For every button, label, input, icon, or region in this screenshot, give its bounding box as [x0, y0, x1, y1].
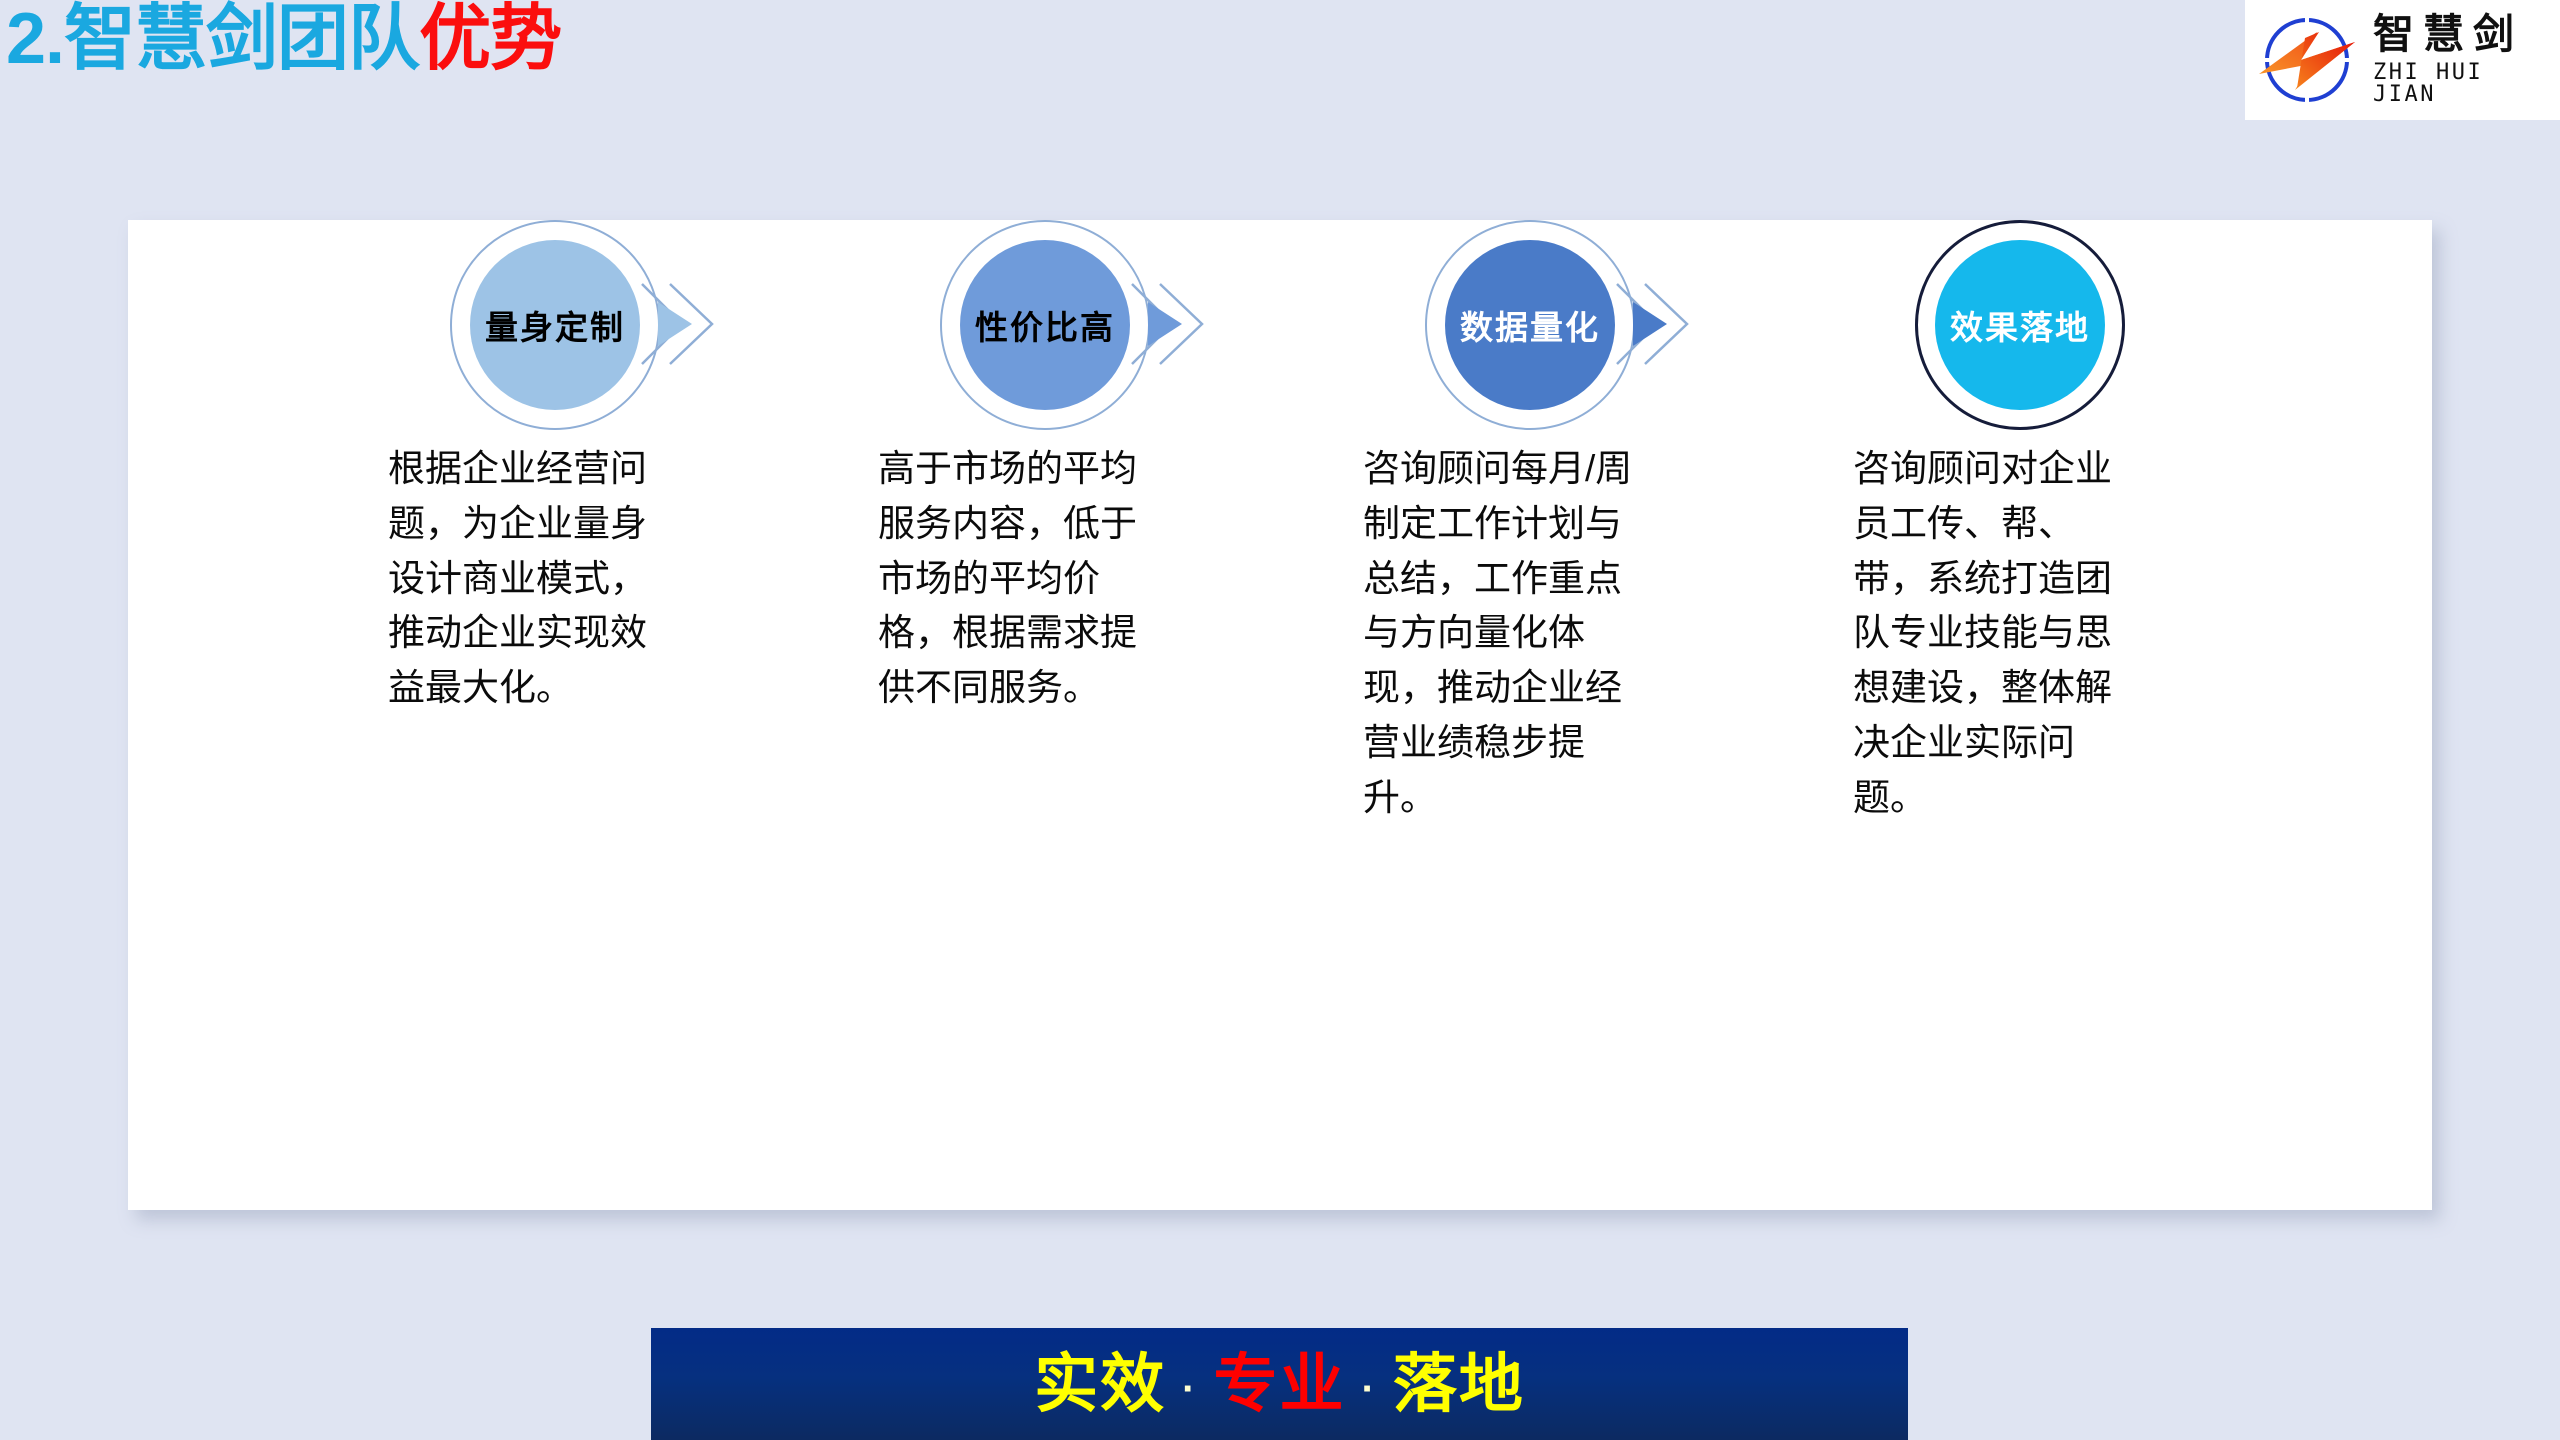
stage-description: 咨询顾问每月/周制定工作计划与总结，工作重点与方向量化体现，推动企业经营业绩稳步…	[1363, 442, 1643, 825]
footer-slogan-banner: 实效·专业·落地	[651, 1328, 1908, 1440]
stage-disc: 量身定制	[470, 240, 640, 410]
page-title-highlight: 优势	[419, 0, 561, 79]
stage-label: 数据量化	[1460, 301, 1600, 349]
logo-pinyin: ZHI HUI JIAN	[2373, 62, 2560, 106]
chevron-right-icon	[1130, 282, 1210, 366]
footer-slogan: 实效·专业·落地	[1034, 1352, 1525, 1416]
footer-word-2: 专业	[1214, 1348, 1346, 1420]
stage-description: 高于市场的平均服务内容，低于市场的平均价格，根据需求提供不同服务。	[878, 442, 1158, 716]
chevron-right-icon	[1615, 282, 1695, 366]
page-title-prefix: 2.智慧剑团队	[6, 0, 419, 79]
stage-disc: 性价比高	[960, 240, 1130, 410]
logo-chinese-name: 智慧剑	[2373, 14, 2560, 55]
footer-separator-1: ·	[1166, 1367, 1213, 1411]
stage-description: 根据企业经营问题，为企业量身设计商业模式，推动企业实现效益最大化。	[388, 442, 668, 716]
content-card: 量身定制 根据企业经营问题，为企业量身设计商业模式，推动企业实现效益最大化。 性…	[128, 220, 2432, 1210]
stage-item[interactable]: 性价比高 高于市场的平均服务内容，低于市场的平均价格，根据需求提供不同服务。	[835, 220, 1255, 540]
page-title: 2.智慧剑团队优势	[6, 2, 561, 78]
stage-label: 量身定制	[485, 301, 625, 349]
stage-disc: 数据量化	[1445, 240, 1615, 410]
stage-disc: 效果落地	[1935, 240, 2105, 410]
footer-word-1: 实效	[1034, 1348, 1166, 1420]
stage-item[interactable]: 效果落地 咨询顾问对企业员工传、帮、带，系统打造团队专业技能与思想建设，整体解决…	[1810, 220, 2230, 540]
stage-label: 性价比高	[975, 301, 1115, 349]
lightning-bolt-in-circle-icon	[2255, 8, 2359, 112]
stage-item[interactable]: 数据量化 咨询顾问每月/周制定工作计划与总结，工作重点与方向量化体现，推动企业经…	[1320, 220, 1740, 540]
stage-description: 咨询顾问对企业员工传、帮、带，系统打造团队专业技能与思想建设，整体解决企业实际问…	[1853, 442, 2143, 825]
chevron-right-icon	[640, 282, 720, 366]
brand-logo: 智慧剑 ZHI HUI JIAN	[2245, 0, 2560, 120]
stage-label: 效果落地	[1950, 301, 2090, 349]
footer-word-3: 落地	[1393, 1348, 1525, 1420]
footer-separator-2: ·	[1346, 1367, 1393, 1411]
stage-item[interactable]: 量身定制 根据企业经营问题，为企业量身设计商业模式，推动企业实现效益最大化。	[345, 220, 765, 540]
